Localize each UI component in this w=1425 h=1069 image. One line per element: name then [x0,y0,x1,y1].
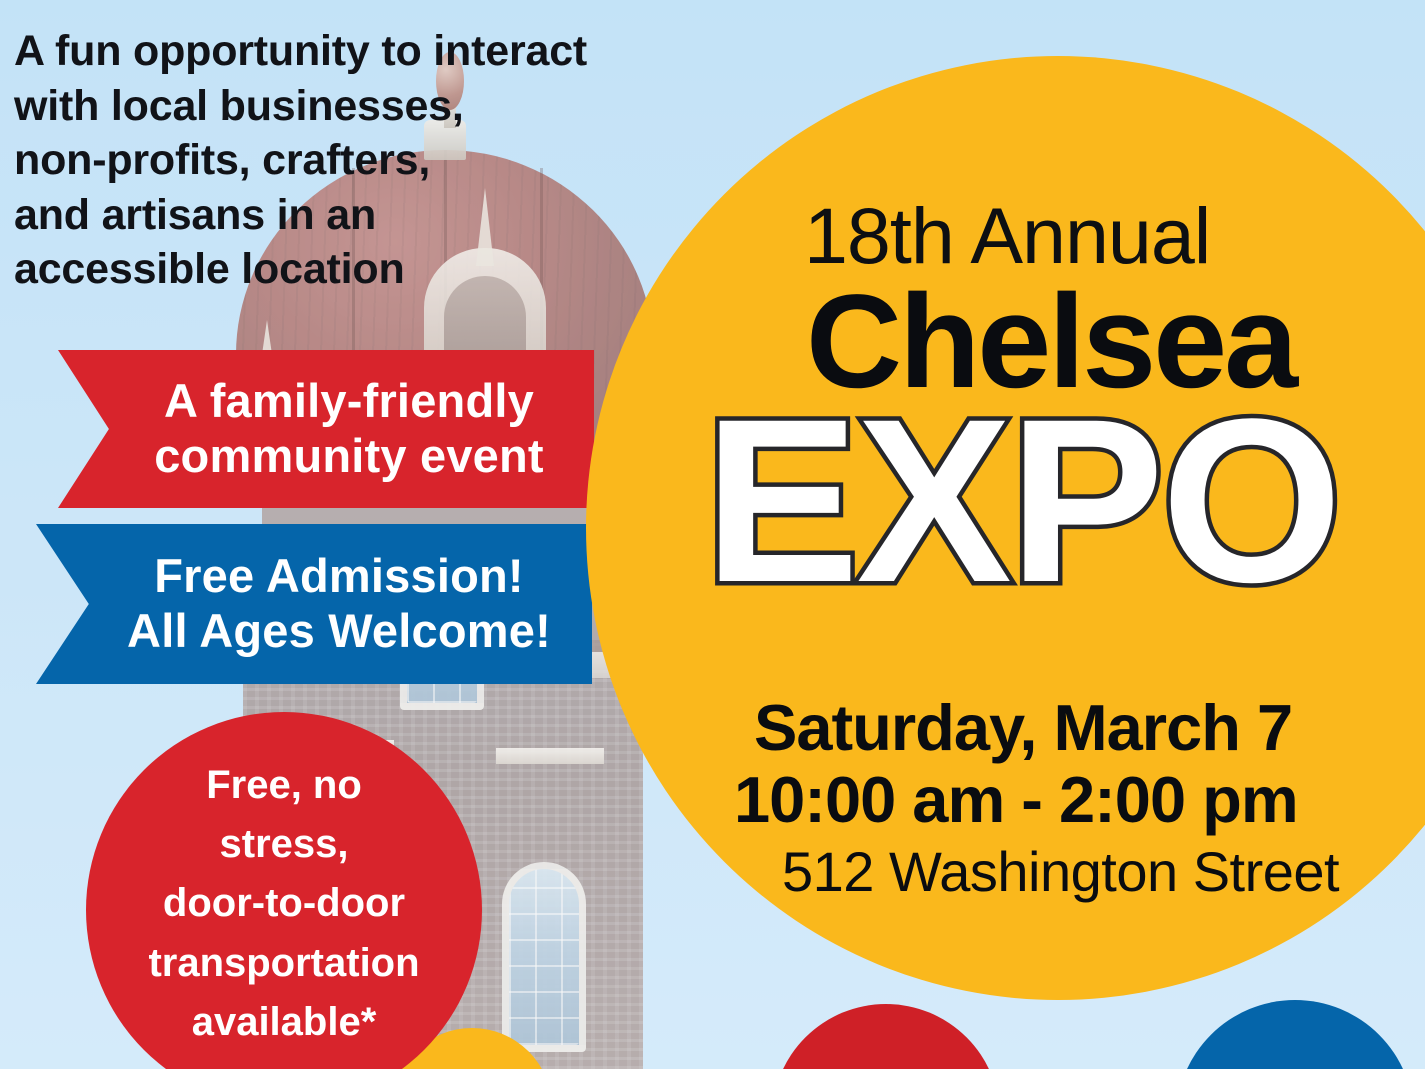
event-edition: 18th Annual [700,196,1425,275]
ribbon-family-friendly: A family-friendly community event [58,350,594,508]
event-time: 10:00 am - 2:00 pm [734,766,1425,834]
transportation-line-1: Free, no [206,756,362,815]
event-flyer: A family-friendly community event Free A… [0,0,1425,1069]
event-headline: 18th Annual Chelsea EXPO [700,196,1425,602]
transportation-line-3: door-to-door [163,874,405,933]
intro-line-4: and artisans in an [14,188,654,243]
intro-paragraph: A fun opportunity to interact with local… [14,24,654,297]
ribbon-family-friendly-line-1: A family-friendly [164,374,534,429]
ribbon-free-admission-line-1: Free Admission! [154,549,524,604]
intro-line-1: A fun opportunity to interact [14,24,654,79]
event-details: Saturday, March 7 10:00 am - 2:00 pm 512… [734,694,1425,901]
intro-line-3: non-profits, crafters, [14,133,654,188]
event-address: 512 Washington Street [734,843,1425,902]
ribbon-free-admission: Free Admission! All Ages Welcome! [36,524,592,684]
ribbon-family-friendly-line-2: community event [154,429,544,484]
transportation-line-5: available* [192,993,377,1052]
transportation-line-4: transportation [148,934,419,993]
transportation-line-2: stress, [220,815,349,874]
intro-line-2: with local businesses, [14,79,654,134]
ribbon-free-admission-line-2: All Ages Welcome! [127,604,551,659]
event-wordmark: EXPO [700,401,1425,601]
intro-line-5: accessible location [14,242,654,297]
event-date: Saturday, March 7 [734,694,1425,762]
